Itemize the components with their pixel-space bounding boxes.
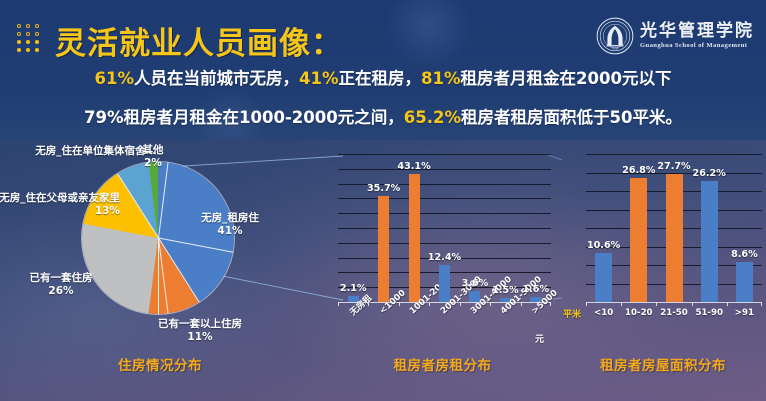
subline-1-run-3: 正在租房， (339, 69, 422, 88)
pie-slice-divider (117, 174, 159, 239)
x-tick (429, 302, 430, 306)
subline-1-run-2: 41% (299, 69, 339, 88)
rent-axis-unit: 元 (535, 332, 544, 345)
bar-21-50[interactable] (666, 174, 683, 302)
subline-2-run-0: 79%租房者月租金在1000-2000元之间， (84, 108, 404, 127)
bar-value-无房租: 2.1% (327, 283, 379, 294)
x-tick (521, 302, 522, 306)
gridline (338, 243, 551, 244)
logo-en-name: Guanghua School of Management (640, 43, 754, 50)
bar-value-<1000: 35.7% (358, 183, 410, 194)
x-tick (586, 302, 587, 306)
area-chart-title: 租房者房屋面积分布 (553, 354, 766, 374)
pie-label-renting: 无房_租房住 41% (178, 212, 282, 238)
slide-header: 灵活就业人员画像： 61%人员在当前城市无房，41%正在租房，81%租房者月租金… (0, 0, 766, 140)
x-tick (550, 302, 551, 306)
subline-1-run-1: 人员在当前城市无房， (134, 69, 299, 88)
bar-value-<10: 10.6% (578, 240, 630, 251)
gridline (338, 154, 551, 155)
page-title: 灵活就业人员画像： (55, 18, 343, 63)
bar-value-1001-2000: 43.1% (388, 161, 440, 172)
pie-label-more-houses: 已有一套以上住房 11% (130, 318, 270, 344)
area-distribution-plot: 10.6%<1026.8%10-2027.7%21-5026.2%51-908.… (586, 154, 762, 302)
area-axis-unit: 平米 (563, 307, 581, 320)
bar-1001-2000[interactable] (409, 174, 420, 302)
pie-slice-divider (158, 238, 169, 314)
housing-status-pie-panel: 无房_住在单位集体宿舍… 其他 2% 无房_住在父母或亲友家里 13% 已有一套… (0, 146, 320, 396)
pie-label-other: 其他 2% (131, 144, 175, 170)
subline-1-run-0: 61% (95, 69, 135, 88)
bar-10-20[interactable] (630, 178, 647, 302)
x-tick (692, 302, 693, 306)
x-tick (368, 302, 369, 306)
svg-text:1898: 1898 (612, 46, 619, 50)
rent-distribution-plot: 2.1%无房租35.7%<100043.1%1001-200012.4%2001… (338, 154, 551, 302)
pie-chart-title: 住房情况分布 (0, 354, 320, 374)
subline-1-run-5: 租房者月租金在2000元以下 (461, 69, 672, 88)
bar-value->91: 8.6% (718, 249, 766, 260)
gridline (338, 169, 551, 170)
x-tick (621, 302, 622, 306)
header-subline-2: 79%租房者月租金在1000-2000元之间，65.2%租房者租房面积低于50平… (0, 104, 766, 128)
logo-cn-name: 光华管理学院 (640, 23, 754, 40)
gridline (338, 213, 551, 214)
gridline (338, 228, 551, 229)
bar-51-90[interactable] (701, 181, 718, 302)
rent-chart-title: 租房者房租分布 (310, 354, 575, 374)
bar-value-51-90: 26.2% (683, 168, 735, 179)
university-logo: 1898 光华管理学院 Guanghua School of Managemen… (596, 17, 754, 55)
x-tick (460, 302, 461, 306)
x-tick (490, 302, 491, 306)
rent-distribution-panel: 2.1%无房租35.7%<100043.1%1001-200012.4%2001… (330, 150, 555, 400)
gridline (338, 198, 551, 199)
x-tick (761, 302, 762, 306)
x-axis-line (586, 302, 762, 303)
bar-<1000[interactable] (378, 196, 389, 302)
subline-2-run-2: 租房者租房面积低于50平米。 (461, 108, 682, 127)
dot-grid-icon (17, 24, 41, 54)
pie-label-one-house: 已有一套住房 26% (6, 272, 116, 298)
bar-value-2001-3000: 12.4% (419, 252, 471, 263)
pie-slice-divider (158, 163, 169, 239)
pie-label-parents: 无房_住在父母或亲友家里 13% (0, 192, 120, 218)
area-distribution-panel: 10.6%<1026.8%10-2027.7%21-5026.2%51-908.… (560, 150, 766, 400)
pie-slice-divider (158, 238, 233, 253)
x-tick (656, 302, 657, 306)
x-tick (399, 302, 400, 306)
bar->91[interactable] (736, 262, 753, 302)
bar-<10[interactable] (595, 253, 612, 302)
header-subline-1: 61%人员在当前城市无房，41%正在租房，81%租房者月租金在2000元以下 (0, 65, 766, 89)
university-seal-icon: 1898 (596, 17, 634, 55)
x-tick (727, 302, 728, 306)
x-label->91: >91 (720, 308, 766, 318)
x-tick (338, 302, 339, 306)
gridline (586, 154, 762, 155)
subline-2-run-1: 65.2% (404, 108, 461, 127)
subline-1-run-4: 81% (421, 69, 461, 88)
slide-canvas: 灵活就业人员画像： 61%人员在当前城市无房，41%正在租房，81%租房者月租金… (0, 0, 766, 401)
